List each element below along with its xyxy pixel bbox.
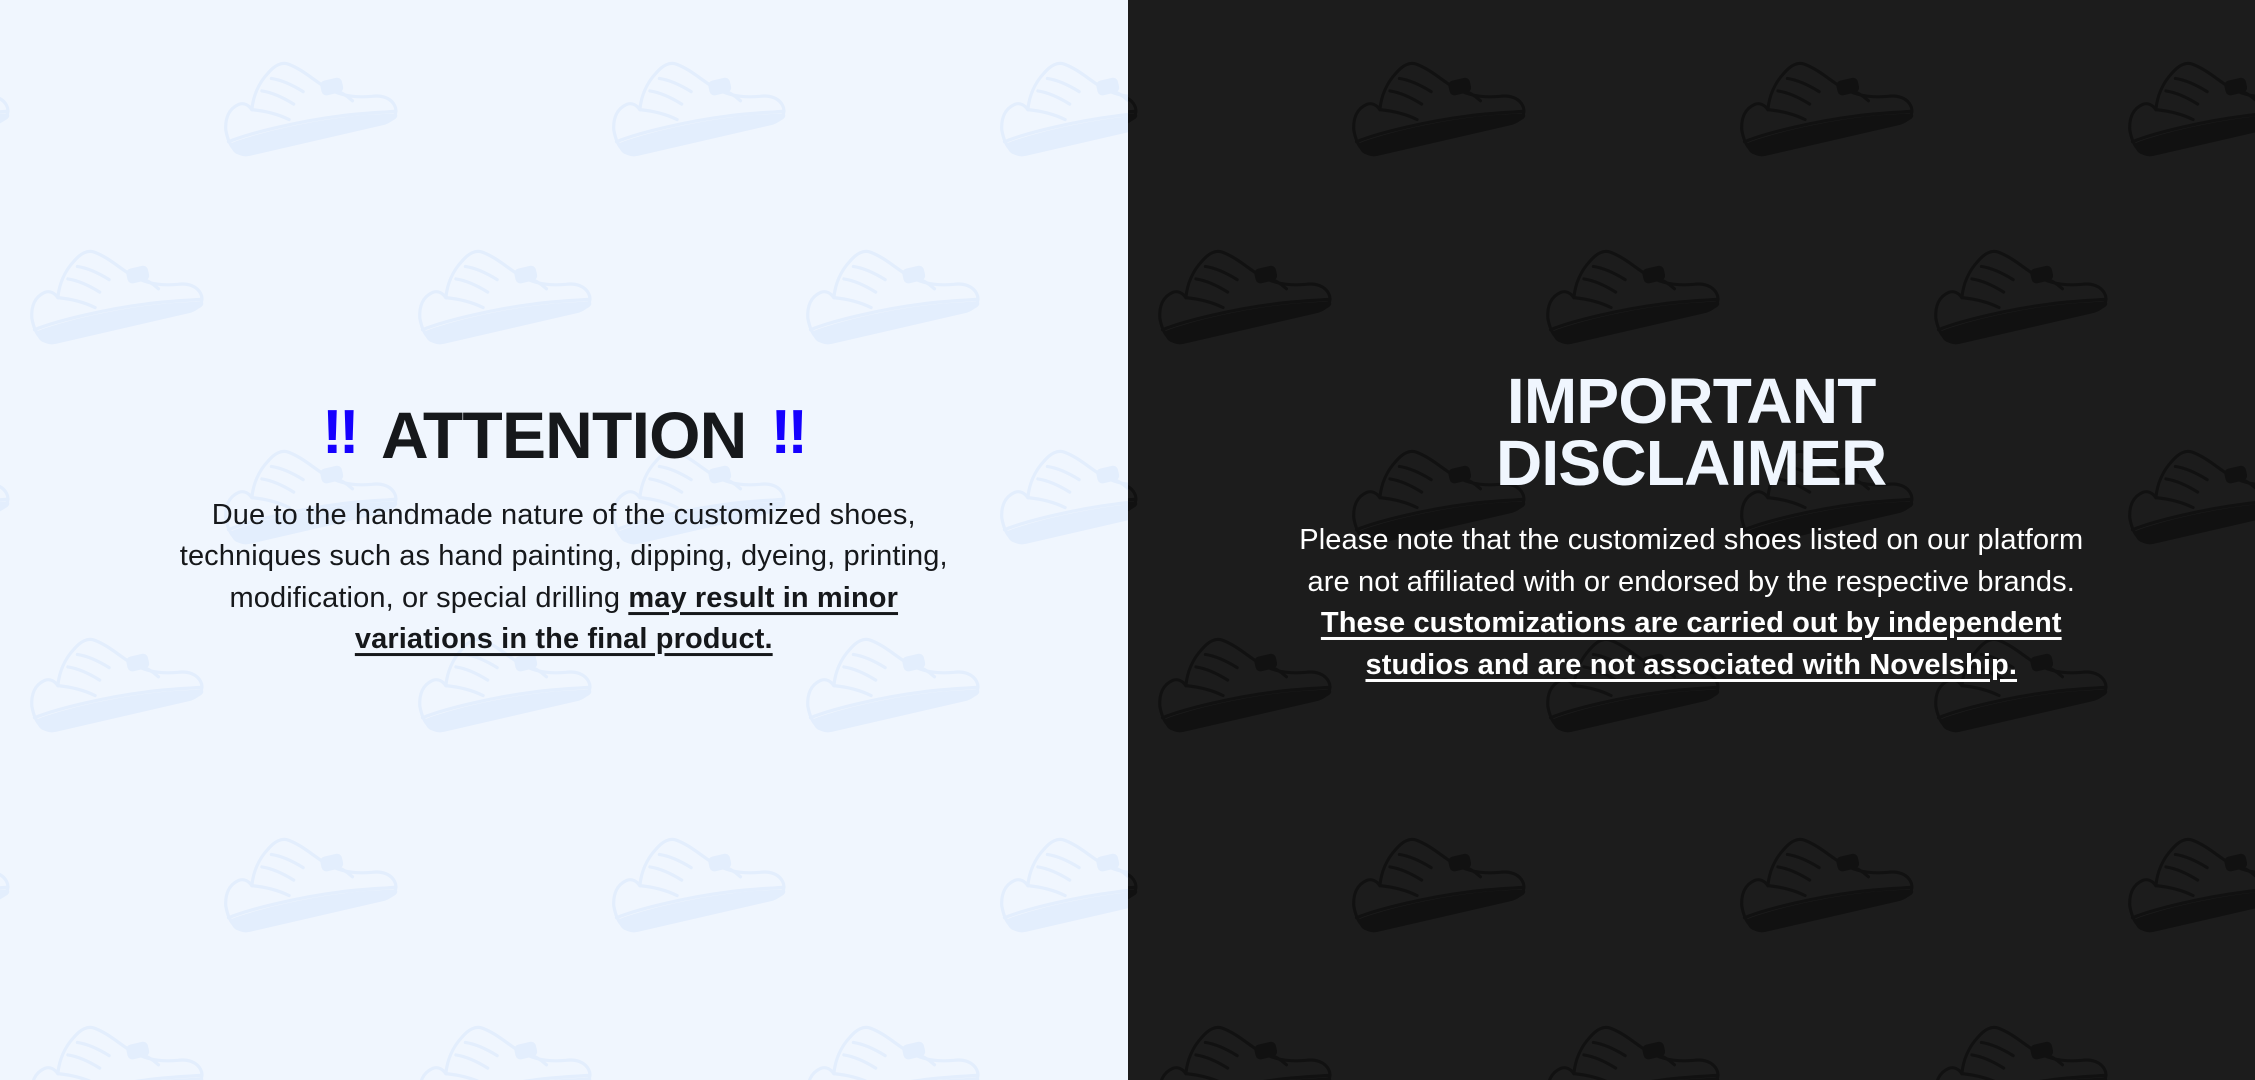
disclaimer-body: Please note that the customized shoes li… [1281, 520, 2101, 686]
attention-heading-label: ATTENTION [381, 403, 747, 467]
disclaimer-heading-line-1: IMPORTANT [1496, 370, 1887, 432]
split-banner: ‼ ATTENTION ‼ Due to the handmade nature… [0, 0, 2255, 1080]
attention-body: Due to the handmade nature of the custom… [164, 495, 964, 661]
disclaimer-panel: IMPORTANT DISCLAIMER Please note that th… [1128, 0, 2255, 1080]
disclaimer-heading-line-2: DISCLAIMER [1496, 432, 1887, 494]
disclaimer-content: IMPORTANT DISCLAIMER Please note that th… [1128, 370, 2255, 686]
double-exclamation-icon-right: ‼ [771, 402, 806, 464]
attention-panel: ‼ ATTENTION ‼ Due to the handmade nature… [0, 0, 1128, 1080]
disclaimer-body-emphasis: These customizations are carried out by … [1321, 607, 2062, 680]
disclaimer-heading: IMPORTANT DISCLAIMER [1496, 370, 1887, 494]
attention-heading: ‼ ATTENTION ‼ [322, 403, 806, 467]
disclaimer-body-plain: Please note that the customized shoes li… [1299, 524, 2083, 597]
double-exclamation-icon-left: ‼ [322, 402, 357, 464]
attention-content: ‼ ATTENTION ‼ Due to the handmade nature… [0, 403, 1128, 661]
